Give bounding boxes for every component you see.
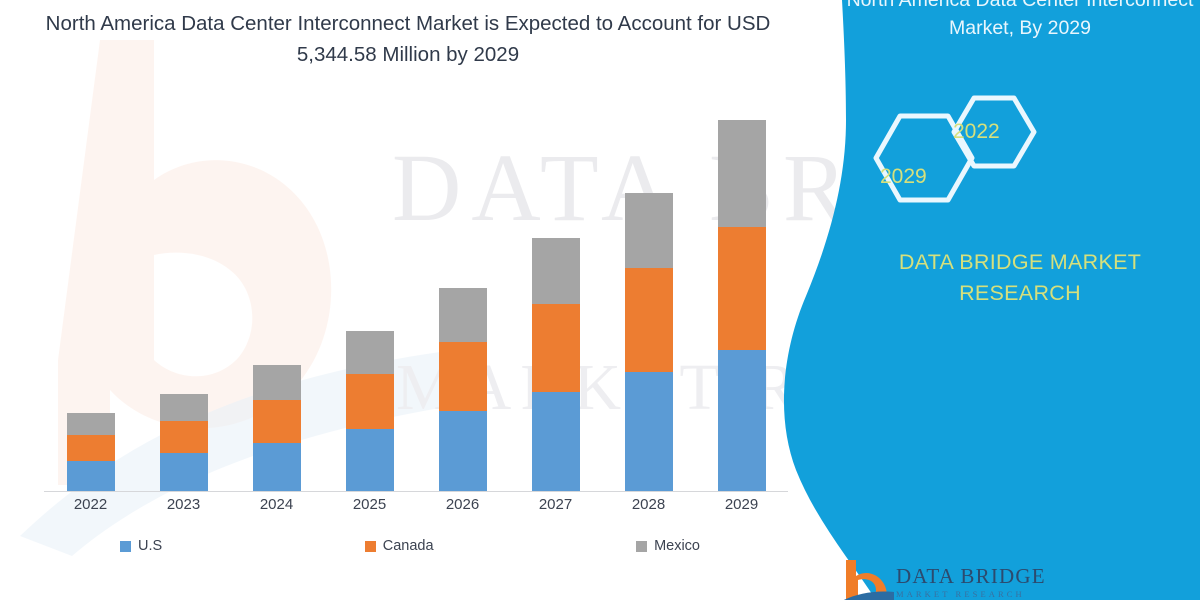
x-axis-label: 2025 — [323, 496, 416, 513]
hexagon-group — [862, 88, 1082, 228]
dbmr-logo-name: DATA BRIDGE — [896, 564, 1046, 589]
brand-panel: North America Data Center Interconnect M… — [780, 0, 1200, 600]
x-axis-label: 2029 — [695, 496, 788, 513]
legend-label: U.S — [138, 538, 162, 554]
bar-group — [509, 120, 602, 491]
stacked-bar — [160, 394, 208, 491]
legend-label: Canada — [383, 538, 434, 554]
bar-segment-us — [160, 453, 208, 491]
stacked-bar-chart — [44, 120, 788, 492]
bar-group — [323, 120, 416, 491]
legend-label: Mexico — [654, 538, 700, 554]
stacked-bar — [718, 120, 766, 491]
legend-swatch-mexico — [636, 541, 647, 552]
bar-segment-canada — [253, 400, 301, 444]
bar-segment-canada — [67, 435, 115, 461]
x-axis-label: 2022 — [44, 496, 137, 513]
bar-segment-canada — [625, 268, 673, 371]
bar-segment-canada — [439, 342, 487, 412]
x-axis-label: 2027 — [509, 496, 602, 513]
infographic-root: DATA BRIDGE MARKET RESEARCH North Americ… — [0, 0, 1200, 600]
bar-group — [416, 120, 509, 491]
legend-swatch-us — [120, 541, 131, 552]
stacked-bar — [625, 193, 673, 491]
stacked-bar — [253, 365, 301, 491]
x-axis-label: 2026 — [416, 496, 509, 513]
bar-segment-us — [253, 443, 301, 491]
bar-group — [695, 120, 788, 491]
bar-segment-canada — [346, 374, 394, 430]
bar-segment-mexico — [67, 413, 115, 435]
x-axis-label: 2023 — [137, 496, 230, 513]
dbmr-logo-tagline: MARKET RESEARCH — [896, 589, 1025, 599]
page-title: North America Data Center Interconnect M… — [22, 8, 794, 70]
dbmr-logo: DATA BRIDGE MARKET RESEARCH — [838, 556, 1088, 600]
bar-segment-us — [346, 429, 394, 491]
stacked-bar — [439, 288, 487, 491]
bar-segment-canada — [718, 227, 766, 349]
panel-title: North America Data Center Interconnect M… — [840, 0, 1200, 42]
x-axis-label: 2028 — [602, 496, 695, 513]
x-axis-line — [44, 491, 788, 492]
stacked-bar — [346, 331, 394, 491]
bar-group — [137, 120, 230, 491]
bar-group — [602, 120, 695, 491]
hexagon-2022-shape — [954, 98, 1034, 166]
x-axis-label: 2024 — [230, 496, 323, 513]
bar-segment-mexico — [346, 331, 394, 374]
bar-group — [44, 120, 137, 491]
legend-item-canada[interactable]: Canada — [365, 538, 434, 554]
legend-item-us[interactable]: U.S — [120, 538, 162, 554]
bar-segment-us — [718, 350, 766, 491]
brand-name-line1: DATA BRIDGE MARKET — [899, 250, 1141, 274]
brand-name: DATA BRIDGE MARKET RESEARCH — [840, 247, 1200, 309]
bar-group — [230, 120, 323, 491]
hexagon-2029-shape — [876, 116, 972, 200]
bar-segment-canada — [532, 304, 580, 392]
bar-segment-mexico — [253, 365, 301, 400]
stacked-bar — [532, 238, 580, 491]
bar-segment-us — [439, 411, 487, 491]
x-axis-labels: 20222023202420252026202720282029 — [44, 496, 788, 513]
brand-name-line2: RESEARCH — [959, 281, 1081, 305]
bar-segment-mexico — [532, 238, 580, 304]
chart-legend: U.SCanadaMexico — [120, 538, 700, 554]
bar-segment-us — [67, 461, 115, 491]
stacked-bar — [67, 413, 115, 491]
bar-segment-mexico — [718, 120, 766, 227]
bar-segment-mexico — [625, 193, 673, 269]
dbmr-logo-mark — [838, 558, 894, 600]
chart-plot-area — [44, 120, 788, 491]
hexagon-2022-label: 2022 — [953, 120, 1000, 144]
legend-swatch-canada — [365, 541, 376, 552]
bar-segment-us — [625, 372, 673, 491]
bar-segment-us — [532, 392, 580, 491]
bar-segment-mexico — [160, 394, 208, 422]
legend-item-mexico[interactable]: Mexico — [636, 538, 700, 554]
bar-segment-canada — [160, 421, 208, 453]
hexagon-2029-label: 2029 — [880, 165, 927, 189]
bar-segment-mexico — [439, 288, 487, 342]
brand-panel-content: North America Data Center Interconnect M… — [840, 0, 1200, 600]
